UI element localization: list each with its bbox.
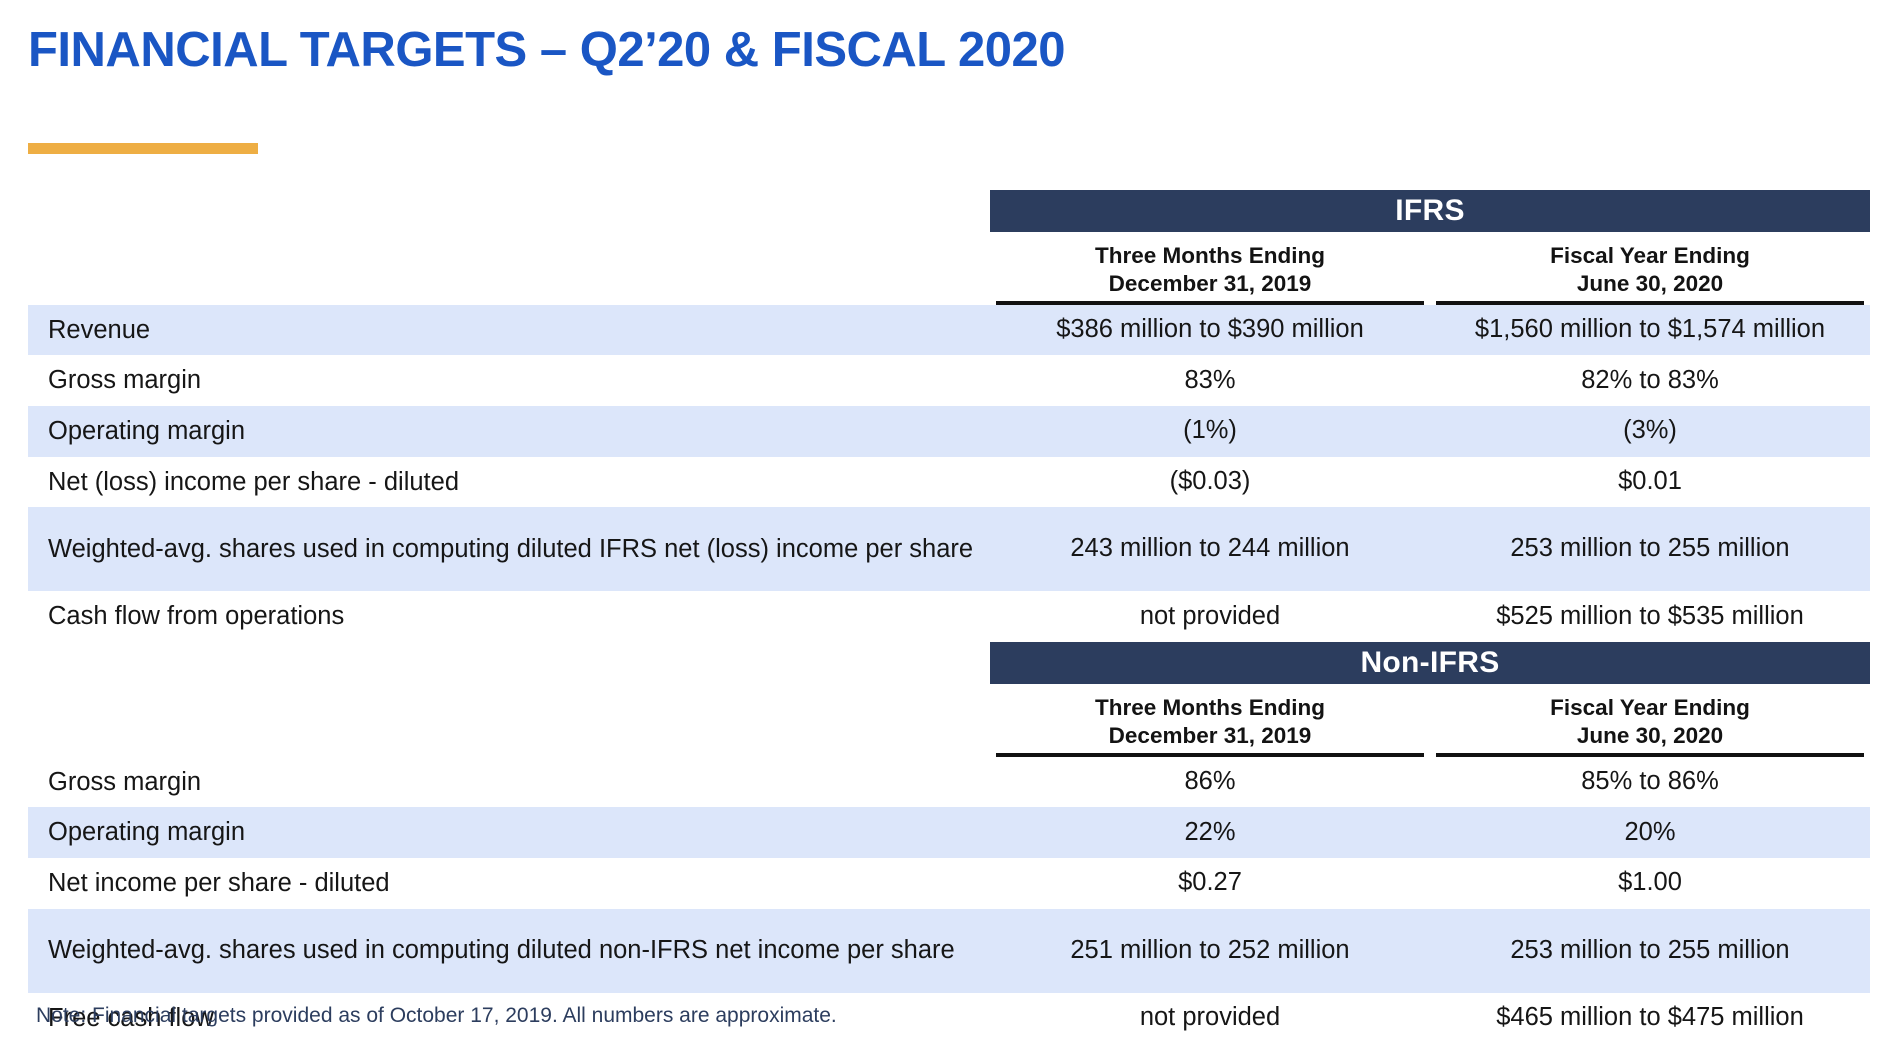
footnote: Note: Financial targets provided as of O…: [36, 1004, 837, 1028]
row-value-three-months: 86%: [990, 757, 1430, 808]
table-row: Net (loss) income per share - diluted($0…: [28, 457, 1870, 508]
column-header-three-months: Three Months Ending December 31, 2019: [990, 232, 1430, 305]
row-value-three-months: 251 million to 252 million: [990, 909, 1430, 993]
table-body-non-ifrs: Gross margin86%85% to 86%Operating margi…: [28, 757, 1870, 1043]
table-row: Cash flow from operationsnot provided$52…: [28, 591, 1870, 642]
column-header-underline: [1436, 753, 1864, 757]
column-header-three-months: Three Months Ending December 31, 2019: [990, 684, 1430, 757]
section-band-label: IFRS: [990, 190, 1870, 232]
row-value-fiscal-year: 82% to 83%: [1430, 355, 1870, 406]
row-value-fiscal-year: (3%): [1430, 406, 1870, 457]
row-value-three-months: $0.27: [990, 858, 1430, 909]
row-value-fiscal-year: 20%: [1430, 807, 1870, 858]
row-value-fiscal-year: 253 million to 255 million: [1430, 909, 1870, 993]
table-row: Weighted-avg. shares used in computing d…: [28, 909, 1870, 993]
row-label: Gross margin: [28, 757, 990, 808]
table-row: Operating margin(1%)(3%): [28, 406, 1870, 457]
column-headers: Three Months Ending December 31, 2019 Fi…: [990, 232, 1870, 305]
table-row: Operating margin22%20%: [28, 807, 1870, 858]
slide-title: FINANCIAL TARGETS – Q2’20 & FISCAL 2020: [28, 24, 1065, 78]
row-label: Operating margin: [28, 807, 990, 858]
column-header-underline: [1436, 301, 1864, 305]
row-label: Gross margin: [28, 355, 990, 406]
column-header-line2: June 30, 2020: [1438, 270, 1862, 298]
column-header-fiscal-year: Fiscal Year Ending June 30, 2020: [1430, 232, 1870, 305]
row-value-fiscal-year: 85% to 86%: [1430, 757, 1870, 808]
column-header-line2: December 31, 2019: [998, 270, 1422, 298]
column-header-fiscal-year: Fiscal Year Ending June 30, 2020: [1430, 684, 1870, 757]
column-header-line2: December 31, 2019: [998, 722, 1422, 750]
row-value-three-months: ($0.03): [990, 457, 1430, 508]
column-header-line1: Fiscal Year Ending: [1550, 695, 1750, 720]
column-header-underline: [996, 753, 1424, 757]
row-value-fiscal-year: $0.01: [1430, 457, 1870, 508]
column-header-line2: June 30, 2020: [1438, 722, 1862, 750]
row-value-three-months: 243 million to 244 million: [990, 507, 1430, 591]
title-accent-rule: [28, 143, 258, 154]
column-header-line1: Fiscal Year Ending: [1550, 243, 1750, 268]
column-header-underline: [996, 301, 1424, 305]
row-value-fiscal-year: $465 million to $475 million: [1430, 993, 1870, 1043]
table-row: Revenue$386 million to $390 million$1,56…: [28, 305, 1870, 356]
row-value-three-months: $386 million to $390 million: [990, 305, 1430, 356]
row-label: Weighted-avg. shares used in computing d…: [28, 507, 990, 591]
row-label: Revenue: [28, 305, 990, 356]
row-value-three-months: not provided: [990, 993, 1430, 1043]
row-label: Net (loss) income per share - diluted: [28, 457, 990, 508]
table-row: Weighted-avg. shares used in computing d…: [28, 507, 1870, 591]
row-value-three-months: not provided: [990, 591, 1430, 642]
column-header-line1: Three Months Ending: [1095, 243, 1325, 268]
section-non-ifrs: Non-IFRS Three Months Ending December 31…: [28, 642, 1870, 1043]
table-row: Gross margin86%85% to 86%: [28, 757, 1870, 808]
row-value-three-months: 83%: [990, 355, 1430, 406]
row-value-three-months: 22%: [990, 807, 1430, 858]
column-headers: Three Months Ending December 31, 2019 Fi…: [990, 684, 1870, 757]
column-header-line1: Three Months Ending: [1095, 695, 1325, 720]
row-label: Net income per share - diluted: [28, 858, 990, 909]
section-band-label: Non-IFRS: [990, 642, 1870, 684]
row-label: Operating margin: [28, 406, 990, 457]
table-row: Gross margin83%82% to 83%: [28, 355, 1870, 406]
table-body-ifrs: Revenue$386 million to $390 million$1,56…: [28, 305, 1870, 642]
row-value-fiscal-year: $525 million to $535 million: [1430, 591, 1870, 642]
row-label: Cash flow from operations: [28, 591, 990, 642]
table-row: Net income per share - diluted$0.27$1.00: [28, 858, 1870, 909]
financial-targets-table: IFRS Three Months Ending December 31, 20…: [28, 190, 1870, 1043]
row-label: Weighted-avg. shares used in computing d…: [28, 909, 990, 993]
row-value-fiscal-year: 253 million to 255 million: [1430, 507, 1870, 591]
row-value-fiscal-year: $1,560 million to $1,574 million: [1430, 305, 1870, 356]
section-ifrs: IFRS Three Months Ending December 31, 20…: [28, 190, 1870, 642]
row-value-fiscal-year: $1.00: [1430, 858, 1870, 909]
row-value-three-months: (1%): [990, 406, 1430, 457]
